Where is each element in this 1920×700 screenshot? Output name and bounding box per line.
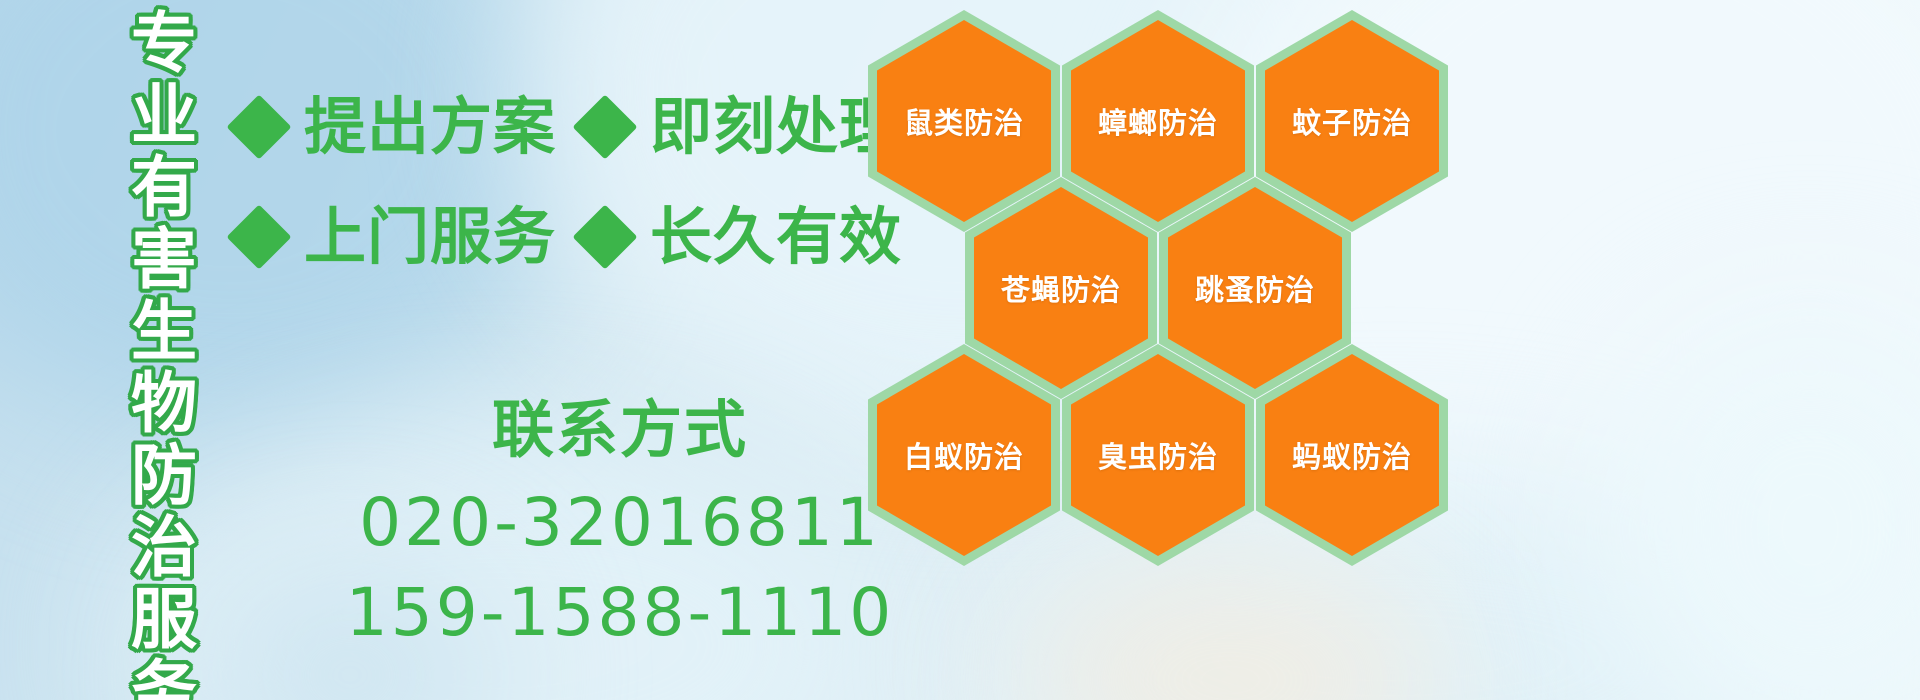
vertical-headline: 专 业 有 害 生 物 防 治 服 务	[105, 8, 223, 668]
vertical-headline-char: 防	[131, 440, 197, 512]
hex-label: 白蚁防治	[904, 434, 1024, 476]
vertical-headline-char: 生	[131, 296, 197, 368]
vertical-headline-char: 务	[131, 656, 197, 700]
feature-row-2: 上门服务 长久有效	[236, 202, 928, 272]
contact-block: 联系方式 020-32016811 159-1588-1110	[300, 392, 940, 658]
contact-phone-mobile[interactable]: 159-1588-1110	[300, 568, 940, 658]
hex-label: 蚊子防治	[1292, 100, 1412, 142]
feature-row-1: 提出方案 即刻处理	[236, 92, 928, 162]
vertical-headline-char: 专	[131, 8, 197, 80]
vertical-headline-char: 服	[131, 584, 197, 656]
diamond-icon	[226, 94, 291, 159]
vertical-headline-char: 害	[131, 224, 197, 296]
feature-item-onsite-service: 上门服务	[236, 202, 582, 272]
pest-control-banner: 专 业 有 害 生 物 防 治 服 务 提出方案 即刻处理 上门服务 长久有效	[0, 0, 1920, 700]
contact-title: 联系方式	[300, 392, 940, 468]
background-blob	[1600, 300, 1920, 700]
vertical-headline-char: 业	[131, 80, 197, 152]
feature-label: 提出方案	[304, 92, 556, 162]
diamond-icon	[572, 204, 637, 269]
diamond-icon	[572, 94, 637, 159]
hex-label: 苍蝇防治	[1001, 267, 1121, 309]
vertical-headline-char: 物	[131, 368, 197, 440]
hex-label: 臭虫防治	[1098, 434, 1218, 476]
vertical-headline-char: 有	[131, 152, 197, 224]
feature-label: 上门服务	[304, 202, 556, 272]
service-hexagon-grid: 鼠类防治 蟑螂防治 蚊子防治 苍蝇防治 跳蚤防治 白蚁防治 臭虫防治	[858, 0, 1478, 700]
hex-label: 蟑螂防治	[1098, 100, 1218, 142]
vertical-headline-char: 治	[131, 512, 197, 584]
hex-label: 鼠类防治	[904, 100, 1024, 142]
contact-phone-landline[interactable]: 020-32016811	[300, 478, 940, 568]
hex-label: 跳蚤防治	[1195, 267, 1315, 309]
feature-item-propose-plan: 提出方案	[236, 92, 582, 162]
diamond-icon	[226, 204, 291, 269]
hex-label: 蚂蚁防治	[1292, 434, 1412, 476]
